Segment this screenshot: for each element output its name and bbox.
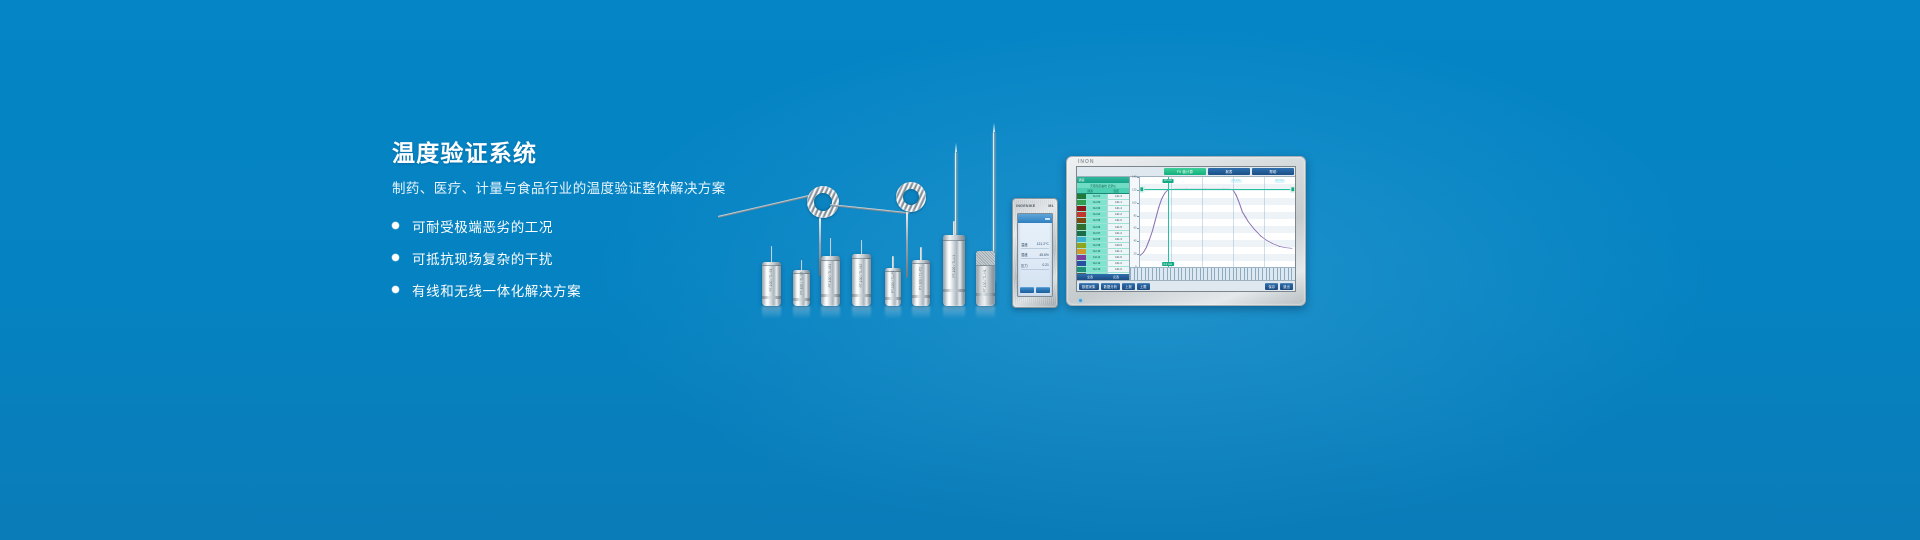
- y-tick-label: 140: [1132, 176, 1136, 179]
- list-item: 压力 0.21: [1021, 263, 1049, 270]
- channel-color-swatch: [1077, 267, 1086, 272]
- logger-stem: [892, 256, 894, 269]
- x-tick: [1236, 268, 1237, 280]
- channel-color-swatch: [1077, 212, 1086, 217]
- exit-button[interactable]: 退出: [1280, 283, 1293, 290]
- readout-label: 压力: [1021, 263, 1028, 268]
- x-tick: [1196, 268, 1197, 280]
- channel-value: 121.1: [1107, 200, 1129, 205]
- channel-value: 121.0: [1107, 267, 1129, 272]
- channel-color-swatch: [1077, 249, 1086, 254]
- logger-ring: [762, 296, 781, 299]
- data-logger-6: PT-100 / TL-P2: [912, 260, 930, 306]
- data-point: [1235, 195, 1237, 196]
- x-tick: [1181, 268, 1182, 280]
- channel-value: 121.5: [1107, 224, 1129, 229]
- y-axis: 020406080100120140: [1130, 177, 1140, 267]
- handheld-keypad[interactable]: [1020, 287, 1049, 293]
- marker-handle-right[interactable]: [1290, 187, 1295, 192]
- channel-name: CH 03: [1086, 206, 1107, 211]
- channel-color-swatch: [1077, 261, 1086, 266]
- x-tick: [1134, 268, 1135, 280]
- logger-mesh-cap: [976, 251, 995, 266]
- logger-reflection: [912, 306, 930, 319]
- marker-tag-bottom: 0.0 min: [1162, 262, 1174, 266]
- validation-software-monitor: INON F0 值计算 报表 帮助 通道 灭菌温度曲线 记录仪: [1066, 156, 1306, 306]
- marker-handle-left[interactable]: [1140, 187, 1145, 192]
- upload-button[interactable]: 上报: [1122, 283, 1135, 290]
- x-tick: [1214, 268, 1215, 280]
- x-tick: [1130, 268, 1131, 280]
- handheld-reader[interactable]: INGENIKE M1 温度 121.2℃ 湿度 45.6%: [1012, 198, 1058, 308]
- channel-value: 121.3: [1107, 194, 1129, 199]
- y-tick-label: 60: [1134, 227, 1137, 230]
- logger-reflection: [762, 306, 781, 319]
- data-point: [1158, 207, 1160, 208]
- data-logger-7: PT-100 / TL-L1: [943, 235, 965, 306]
- logger-reflection: [976, 306, 995, 319]
- x-axis: [1130, 267, 1295, 280]
- channel-name: CH 06: [1086, 224, 1107, 229]
- x-tick: [1211, 268, 1212, 280]
- x-tick: [1167, 268, 1168, 280]
- temperature-marker-line[interactable]: [1140, 189, 1295, 190]
- collect-data-button[interactable]: 数据采集: [1079, 283, 1099, 290]
- chart-canvas[interactable]: 18 min 0.0 min 62 min 93 min: [1140, 177, 1295, 267]
- logger-label: PT-100 / TL-H1: [983, 278, 987, 292]
- x-tick: [1255, 268, 1256, 280]
- y-tick-label: 80: [1134, 214, 1137, 217]
- x-tick: [1178, 268, 1179, 280]
- readout-value: 121.2℃: [1037, 242, 1049, 246]
- channel-value: 121.1: [1107, 249, 1129, 254]
- x-tick: [1218, 268, 1219, 280]
- power-led-icon: [1079, 299, 1082, 302]
- handheld-titlebar: [1018, 214, 1051, 223]
- channel-color-swatch: [1077, 218, 1086, 223]
- logger-ring: [976, 293, 995, 296]
- app-body: 通道 灭菌温度曲线 记录仪 通道 温度 CH 01121.3CH 02121.1…: [1077, 177, 1295, 280]
- x-tick: [1244, 268, 1245, 280]
- y-tick-label: 120: [1132, 188, 1136, 191]
- upper-limit-button[interactable]: 上限: [1137, 283, 1150, 290]
- legend-title: 通道: [1079, 178, 1085, 182]
- logger-stem: [920, 247, 922, 261]
- feature-label: 有线和无线一体化解决方案: [412, 280, 581, 300]
- channel-value: 121.2: [1107, 212, 1129, 217]
- feature-label: 可抵抗现场复杂的干扰: [412, 248, 553, 268]
- bullet-dot-icon: [392, 254, 399, 261]
- data-point: [1149, 240, 1151, 241]
- channel-name: CH 10: [1086, 249, 1107, 254]
- channel-name: CH 05: [1086, 218, 1107, 223]
- channel-name: CH 07: [1086, 231, 1107, 236]
- channel-color-swatch: [1077, 206, 1086, 211]
- channel-name: CH 04: [1086, 212, 1107, 217]
- x-tick: [1200, 268, 1201, 280]
- logger-label: PT-100 / TL-S2: [799, 282, 803, 295]
- logger-ring: [793, 298, 810, 301]
- channel-value: 120.9: [1107, 243, 1129, 248]
- channel-value: 121.4: [1107, 206, 1129, 211]
- channel-value: 121.2: [1107, 231, 1129, 236]
- curve-data-points: [1140, 189, 1280, 256]
- monitor-brand: INON: [1078, 159, 1095, 165]
- marker-tag-top: 18 min: [1162, 179, 1173, 183]
- channel-legend-panel[interactable]: 通道 灭菌温度曲线 记录仪 通道 温度 CH 01121.3CH 02121.1…: [1077, 177, 1130, 280]
- handheld-screen[interactable]: 温度 121.2℃ 湿度 45.6% 压力 0.21: [1017, 213, 1052, 297]
- channel-name: CH 12: [1086, 261, 1107, 266]
- tab-f0-calc[interactable]: F0 值计算: [1164, 168, 1206, 176]
- logger-ring: [821, 294, 840, 297]
- signal-icon: [1045, 218, 1050, 220]
- logger-reflection: [943, 306, 965, 319]
- x-tick: [1280, 268, 1281, 280]
- readout-value: 0.21: [1042, 263, 1049, 267]
- logger-reflection: [885, 306, 901, 319]
- channel-name: CH 08: [1086, 237, 1107, 242]
- x-tick: [1277, 268, 1278, 280]
- y-tick-label: 100: [1132, 201, 1136, 204]
- x-tick: [1148, 268, 1149, 280]
- logger-label: PT-100 / TL-S1: [769, 277, 773, 291]
- chart-plot[interactable]: 020406080100120140 18 min: [1130, 177, 1295, 267]
- temperature-curve-svg: [1140, 177, 1295, 267]
- logger-stem: [771, 246, 773, 263]
- channel-color-swatch: [1077, 243, 1086, 248]
- x-tick: [1288, 268, 1289, 280]
- bullet-dot-icon: [392, 222, 399, 229]
- legend-col-temp: 温度: [1103, 189, 1129, 193]
- sterilization-curve: [1140, 189, 1292, 255]
- channel-value: 121.6: [1107, 255, 1129, 260]
- channel-name: CH 11: [1086, 255, 1107, 260]
- ghost-marker-tag-1: 62 min: [1231, 179, 1242, 183]
- x-tick: [1222, 268, 1223, 280]
- channel-color-swatch: [1077, 237, 1086, 242]
- x-tick: [1225, 268, 1226, 280]
- channel-value: 121.3: [1107, 237, 1129, 242]
- x-tick: [1284, 268, 1285, 280]
- logger-ring: [943, 289, 965, 292]
- bullet-dot-icon: [392, 286, 399, 293]
- handheld-confirm-button[interactable]: [1020, 287, 1033, 293]
- legend-col-channel: 通道: [1077, 189, 1103, 193]
- x-tick: [1233, 268, 1234, 280]
- data-point: [1245, 216, 1247, 217]
- channel-name: CH 09: [1086, 243, 1107, 248]
- x-tick: [1185, 268, 1186, 280]
- logger-label: PT-100 / TL-M1: [828, 273, 832, 287]
- handheld-brand-row: INGENIKE M1: [1016, 204, 1054, 208]
- plot-area: 020406080100120140 18 min: [1130, 177, 1295, 280]
- logger-stem: [801, 260, 803, 271]
- x-tick: [1159, 268, 1160, 280]
- software-screen[interactable]: F0 值计算 报表 帮助 通道 灭菌温度曲线 记录仪 通道 温度: [1076, 166, 1296, 292]
- logger-stem: [953, 221, 955, 236]
- data-point: [1279, 246, 1281, 247]
- x-tick: [1141, 268, 1142, 280]
- x-tick: [1247, 268, 1248, 280]
- channel-color-swatch: [1077, 231, 1086, 236]
- channel-color-swatch: [1077, 224, 1086, 229]
- logger-ring: [885, 297, 901, 300]
- x-tick: [1291, 268, 1292, 280]
- logger-reflection: [852, 306, 871, 319]
- data-logger-3: PT-100 / TL-M1: [821, 256, 840, 306]
- handheld-brand: INGENIKE: [1016, 204, 1035, 208]
- channel-value: 121.0: [1107, 218, 1129, 223]
- channel-color-swatch: [1077, 255, 1086, 260]
- time-marker-line[interactable]: [1168, 177, 1169, 267]
- x-tick: [1156, 268, 1157, 280]
- readout-label: 温度: [1021, 242, 1028, 247]
- x-tick: [1174, 268, 1175, 280]
- x-tick: [1266, 268, 1267, 280]
- hero-banner: 温度验证系统 制药、医疗、计量与食品行业的温度验证整体解决方案 可耐受极端恶劣的…: [0, 0, 1920, 540]
- save-button[interactable]: 保存: [1265, 283, 1278, 290]
- x-tick: [1170, 268, 1171, 280]
- logger-stem: [830, 238, 832, 257]
- channel-color-swatch: [1077, 200, 1086, 205]
- ghost-marker-tag-2: 93 min: [1274, 179, 1285, 183]
- channel-value: 121.2: [1107, 261, 1129, 266]
- feature-label: 可耐受极端恶劣的工况: [412, 216, 553, 236]
- handheld-back-button[interactable]: [1036, 287, 1049, 293]
- x-tick: [1203, 268, 1204, 280]
- logger-ring: [852, 294, 871, 297]
- handheld-model: M1: [1048, 204, 1054, 208]
- tab-report[interactable]: 报表: [1208, 168, 1250, 176]
- logger-label: PT-100 / TL-L1: [952, 261, 956, 278]
- logger-stem: [861, 240, 863, 255]
- legend-row-list[interactable]: CH 01121.3CH 02121.1CH 03121.4CH 04121.2…: [1077, 194, 1129, 274]
- x-tick: [1251, 268, 1252, 280]
- data-logger-5: PT-100 / TL-P1: [885, 268, 901, 306]
- x-tick: [1258, 268, 1259, 280]
- logger-reflection: [793, 306, 810, 319]
- logger-label: PT-100 / TL-P1: [891, 281, 895, 293]
- readout-value: 45.6%: [1039, 253, 1049, 257]
- logger-label: PT-100 / TL-P2: [919, 276, 923, 290]
- x-tick: [1189, 268, 1190, 280]
- y-tick-label: 20: [1134, 253, 1137, 256]
- readout-label: 湿度: [1021, 252, 1028, 257]
- app-bottom-toolbar[interactable]: 数据采集 数据分析 上报 上限 保存 退出: [1077, 280, 1295, 291]
- tab-help[interactable]: 帮助: [1252, 168, 1294, 176]
- x-tick: [1137, 268, 1138, 280]
- data-logger-1: PT-100 / TL-S1: [762, 262, 781, 306]
- data-point: [1260, 236, 1262, 237]
- channel-name: CH 02: [1086, 200, 1107, 205]
- list-item: 湿度 45.6%: [1021, 252, 1049, 259]
- channel-name: CH 01: [1086, 194, 1107, 199]
- list-item: 温度 121.2℃: [1021, 242, 1049, 249]
- channel-color-swatch: [1077, 194, 1086, 199]
- data-logger-8: PT-100 / TL-H1: [976, 251, 995, 306]
- x-tick: [1262, 268, 1263, 280]
- x-tick: [1229, 268, 1230, 280]
- analyze-data-button[interactable]: 数据分析: [1101, 283, 1121, 290]
- x-tick: [1192, 268, 1193, 280]
- x-tick: [1145, 268, 1146, 280]
- channel-name: CH 13: [1086, 267, 1107, 272]
- app-top-toolbar[interactable]: F0 值计算 报表 帮助: [1077, 167, 1295, 177]
- toolbar-spacer: [1077, 167, 1163, 176]
- logger-label: PT-100 / TL-M2: [859, 273, 863, 287]
- x-tick: [1152, 268, 1153, 280]
- y-tick-label: 40: [1134, 240, 1137, 243]
- data-logger-4: PT-100 / TL-M2: [852, 254, 871, 306]
- x-tick: [1240, 268, 1241, 280]
- product-scene: PT-100 / TL-S1 PT-100 / TL-S2 PT-100 / T…: [700, 120, 1240, 310]
- x-tick: [1207, 268, 1208, 280]
- logger-reflection: [821, 306, 840, 319]
- x-tick: [1269, 268, 1270, 280]
- x-tick: [1163, 268, 1164, 280]
- logger-ring: [912, 295, 930, 298]
- data-logger-2: PT-100 / TL-S2: [793, 270, 810, 306]
- x-tick: [1273, 268, 1274, 280]
- handheld-readout-list: 温度 121.2℃ 湿度 45.6% 压力 0.21: [1021, 242, 1049, 273]
